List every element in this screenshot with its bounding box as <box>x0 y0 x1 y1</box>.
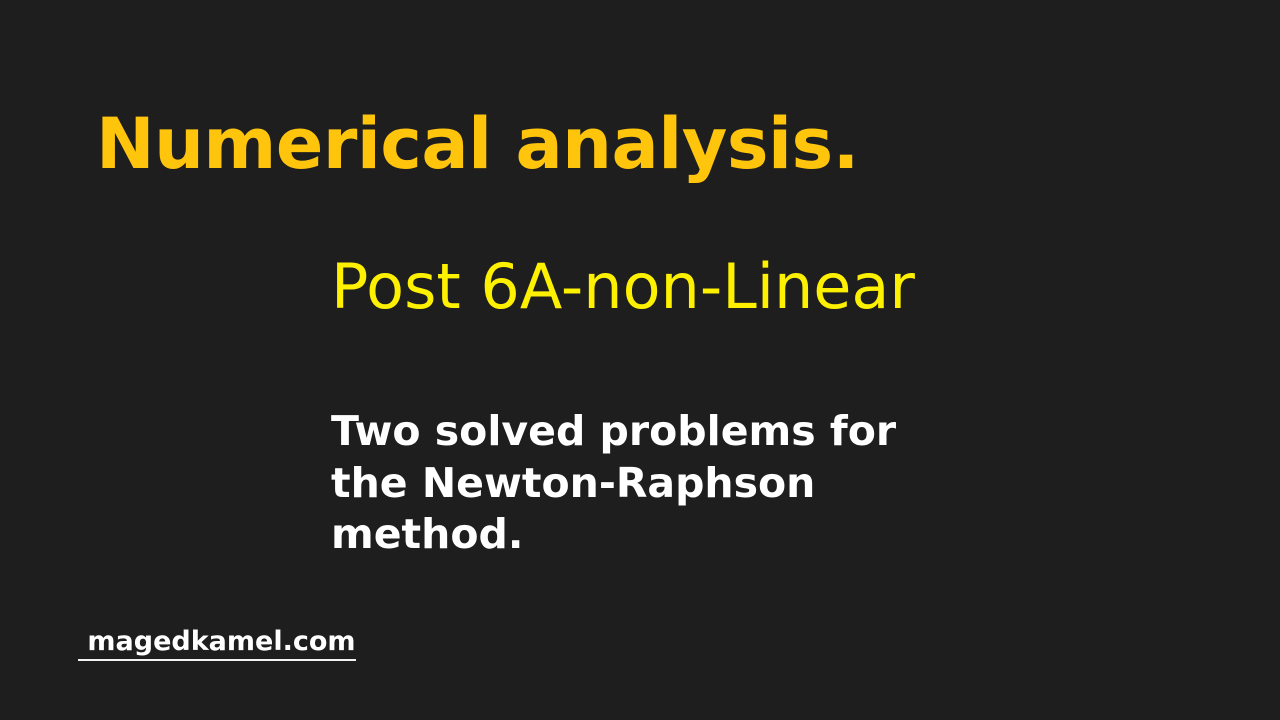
website-link[interactable]: magedkamel.com <box>78 626 356 661</box>
slide-body-text: Two solved problems for the Newton-Raphs… <box>331 406 981 561</box>
presentation-slide: Numerical analysis. Post 6A-non-Linear T… <box>0 0 1280 720</box>
slide-subtitle: Post 6A-non-Linear <box>331 254 915 319</box>
page-title: Numerical analysis. <box>96 109 859 179</box>
